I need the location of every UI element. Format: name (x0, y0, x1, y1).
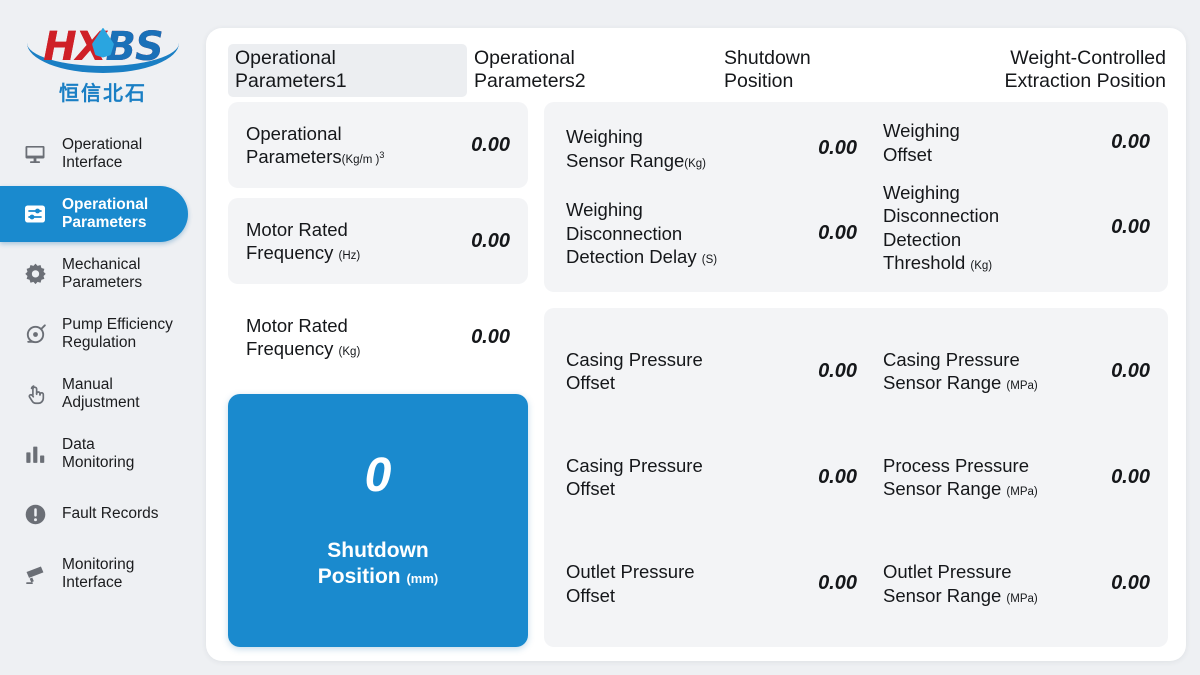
param-row-label: Weighing Disconnection Detection Delay (… (566, 198, 717, 268)
param-row-label: Outlet Pressure Offset (566, 560, 695, 607)
param-row-label-text: Casing Pressure Offset (566, 349, 703, 393)
param-row-unit: (MPa) (1006, 380, 1037, 392)
param-row-casing-pressure-offset-1[interactable]: Casing Pressure Offset 0.00 (566, 348, 857, 395)
param-row-label: Process Pressure Sensor Range (MPa) (883, 454, 1038, 501)
param-row-unit: (MPa) (1006, 486, 1037, 498)
tab-operational-parameters-2[interactable]: Operational Parameters2 (467, 44, 717, 97)
sidebar-item-manual-adjustment[interactable]: Manual Adjustment (0, 366, 206, 422)
sidebar: HXBS 恒信北石 Operational Interface Operatio… (0, 0, 206, 675)
weighing-weight-column: Weighing Offset 0.00 Weighing Disconnect… (869, 112, 1168, 282)
param-unit-exponent: 3 (379, 150, 384, 160)
param-row-casing-pressure-offset-2[interactable]: Casing Pressure Offset 0.00 (566, 454, 857, 501)
monitor-icon (22, 141, 48, 167)
param-row-unit: (S) (702, 254, 717, 266)
param-row-unit: (MPa) (1006, 593, 1037, 605)
bar-chart-icon (22, 441, 48, 467)
param-row-label: Casing Pressure Offset (566, 454, 703, 501)
shutdown-position-unit: (mm) (406, 571, 438, 586)
param-unit: (Kg) (339, 346, 361, 358)
param-label-text: Operational Parameters (246, 123, 342, 167)
pressure-panel: Casing Pressure Offset 0.00 Casing Press… (544, 308, 1168, 647)
param-row-label-text: Outlet Pressure Sensor Range (883, 561, 1012, 605)
param-row-weighing-disconnection-detection-delay[interactable]: Weighing Disconnection Detection Delay (… (566, 198, 857, 268)
sidebar-item-fault-records[interactable]: Fault Records (0, 486, 206, 542)
param-row-value: 0.00 (818, 572, 857, 595)
brand-logo: HXBS 恒信北石 (0, 10, 206, 114)
tab-weight-controlled-extraction-position[interactable]: Weight-Controlled Extraction Position (974, 44, 1168, 97)
tab-shutdown-position[interactable]: Shutdown Position (717, 44, 974, 97)
tab-operational-parameters-1[interactable]: Operational Parameters1 (228, 44, 467, 97)
shutdown-position-highlight-card[interactable]: 0 Shutdown Position (mm) (228, 394, 528, 647)
param-row-label-text: Weighing Offset (883, 120, 960, 164)
sidebar-item-operational-interface[interactable]: Operational Interface (0, 126, 206, 182)
sidebar-item-label: Pump Efficiency Regulation (62, 316, 173, 353)
sidebar-item-label: Manual Adjustment (62, 376, 140, 413)
param-row-label: Weighing Disconnection Detection Thresho… (883, 181, 999, 275)
sidebar-item-label: Operational Parameters (62, 196, 148, 233)
param-unit-text: (Kg/m ) (342, 154, 380, 166)
sidebar-item-label: Monitoring Interface (62, 556, 134, 593)
param-row-label-text: Weighing Sensor Range (566, 126, 684, 170)
param-row-value: 0.00 (818, 222, 857, 245)
alert-circle-icon (22, 501, 48, 527)
param-card-operational-parameters[interactable]: Operational Parameters(Kg/m )3 0.00 (228, 102, 528, 188)
param-row-label: Weighing Offset (883, 119, 960, 166)
pressure-shutdown-column: Casing Pressure Offset 0.00 Casing Press… (544, 318, 869, 637)
param-unit: (Kg/m )3 (342, 154, 385, 166)
param-row-weighing-sensor-range[interactable]: Weighing Sensor Range(Kg) 0.00 (566, 125, 857, 172)
sidebar-nav: Operational Interface Operational Parame… (0, 126, 206, 606)
param-row-label: Weighing Sensor Range(Kg) (566, 125, 706, 172)
sidebar-item-mechanical-parameters[interactable]: Mechanical Parameters (0, 246, 206, 302)
param-row-label-text: Outlet Pressure Offset (566, 561, 695, 605)
param-row-label-text: Casing Pressure Sensor Range (883, 349, 1020, 393)
hand-tap-icon (22, 381, 48, 407)
shutdown-position-value: 0 (365, 452, 392, 500)
main-content: Operational Parameters1 Operational Para… (206, 28, 1186, 661)
param-card-value: 0.00 (471, 134, 510, 157)
param-row-unit: (Kg) (970, 260, 992, 272)
weighing-panel: Weighing Sensor Range(Kg) 0.00 Weighing … (544, 102, 1168, 292)
sidebar-item-label: Fault Records (62, 505, 158, 523)
sidebar-item-label: Operational Interface (62, 136, 142, 173)
sidebar-item-label: Mechanical Parameters (62, 256, 142, 293)
param-row-value: 0.00 (818, 137, 857, 160)
param-row-label: Casing Pressure Sensor Range (MPa) (883, 348, 1038, 395)
weighing-shutdown-column: Weighing Sensor Range(Kg) 0.00 Weighing … (544, 112, 869, 282)
cctv-camera-icon (22, 561, 48, 587)
param-row-value: 0.00 (818, 466, 857, 489)
param-row-value: 0.00 (1111, 216, 1150, 239)
gear-icon (22, 261, 48, 287)
param-card-label: Motor Rated Frequency (Kg) (246, 314, 360, 360)
param-label-text: Motor Rated Frequency (246, 315, 348, 359)
param-unit: (Hz) (339, 250, 361, 262)
operational-parameters-1-column: Operational Parameters(Kg/m )3 0.00 Moto… (228, 102, 528, 647)
param-row-value: 0.00 (1111, 572, 1150, 595)
logo-chinese-name: 恒信北石 (59, 77, 147, 106)
param-card-motor-rated-frequency-kg[interactable]: Motor Rated Frequency (Kg) 0.00 (228, 294, 528, 380)
param-card-label: Operational Parameters(Kg/m )3 (246, 122, 384, 168)
param-card-label: Motor Rated Frequency (Hz) (246, 218, 360, 264)
right-panels: Weighing Sensor Range(Kg) 0.00 Weighing … (544, 102, 1168, 647)
sidebar-item-operational-parameters[interactable]: Operational Parameters (0, 186, 188, 242)
param-row-weighing-disconnection-detection-threshold[interactable]: Weighing Disconnection Detection Thresho… (883, 181, 1150, 275)
param-card-motor-rated-frequency-hz[interactable]: Motor Rated Frequency (Hz) 0.00 (228, 198, 528, 284)
tab-bar: Operational Parameters1 Operational Para… (228, 44, 1168, 102)
sliders-icon (22, 201, 48, 227)
param-row-outlet-pressure-sensor-range[interactable]: Outlet Pressure Sensor Range (MPa) 0.00 (883, 560, 1150, 607)
param-row-label-text: Casing Pressure Offset (566, 455, 703, 499)
param-row-weighing-offset[interactable]: Weighing Offset 0.00 (883, 119, 1150, 166)
logo-mark: HXBS (23, 19, 183, 75)
sidebar-item-pump-efficiency-regulation[interactable]: Pump Efficiency Regulation (0, 306, 206, 362)
param-row-unit: (Kg) (684, 158, 706, 170)
param-row-label-text: Weighing Disconnection Detection Delay (566, 199, 697, 267)
app-root: HXBS 恒信北石 Operational Interface Operatio… (0, 0, 1200, 675)
shutdown-position-label: Shutdown Position (mm) (318, 538, 438, 588)
param-row-value: 0.00 (1111, 360, 1150, 383)
param-card-value: 0.00 (471, 230, 510, 253)
param-card-value: 0.00 (471, 326, 510, 349)
param-row-value: 0.00 (1111, 466, 1150, 489)
param-row-label: Casing Pressure Offset (566, 348, 703, 395)
pump-icon (22, 321, 48, 347)
param-row-label: Outlet Pressure Sensor Range (MPa) (883, 560, 1038, 607)
logo-bs: BS (106, 24, 163, 70)
sidebar-item-monitoring-interface[interactable]: Monitoring Interface (0, 546, 206, 602)
param-row-value: 0.00 (1111, 131, 1150, 154)
pressure-weight-column: Casing Pressure Sensor Range (MPa) 0.00 … (869, 318, 1168, 637)
param-label-text: Motor Rated Frequency (246, 219, 348, 263)
parameter-columns: Operational Parameters(Kg/m )3 0.00 Moto… (228, 102, 1168, 647)
param-row-outlet-pressure-offset[interactable]: Outlet Pressure Offset 0.00 (566, 560, 857, 607)
param-row-casing-pressure-sensor-range[interactable]: Casing Pressure Sensor Range (MPa) 0.00 (883, 348, 1150, 395)
sidebar-item-label: Data Monitoring (62, 436, 134, 473)
sidebar-item-data-monitoring[interactable]: Data Monitoring (0, 426, 206, 482)
param-row-process-pressure-sensor-range[interactable]: Process Pressure Sensor Range (MPa) 0.00 (883, 454, 1150, 501)
param-row-value: 0.00 (818, 360, 857, 383)
